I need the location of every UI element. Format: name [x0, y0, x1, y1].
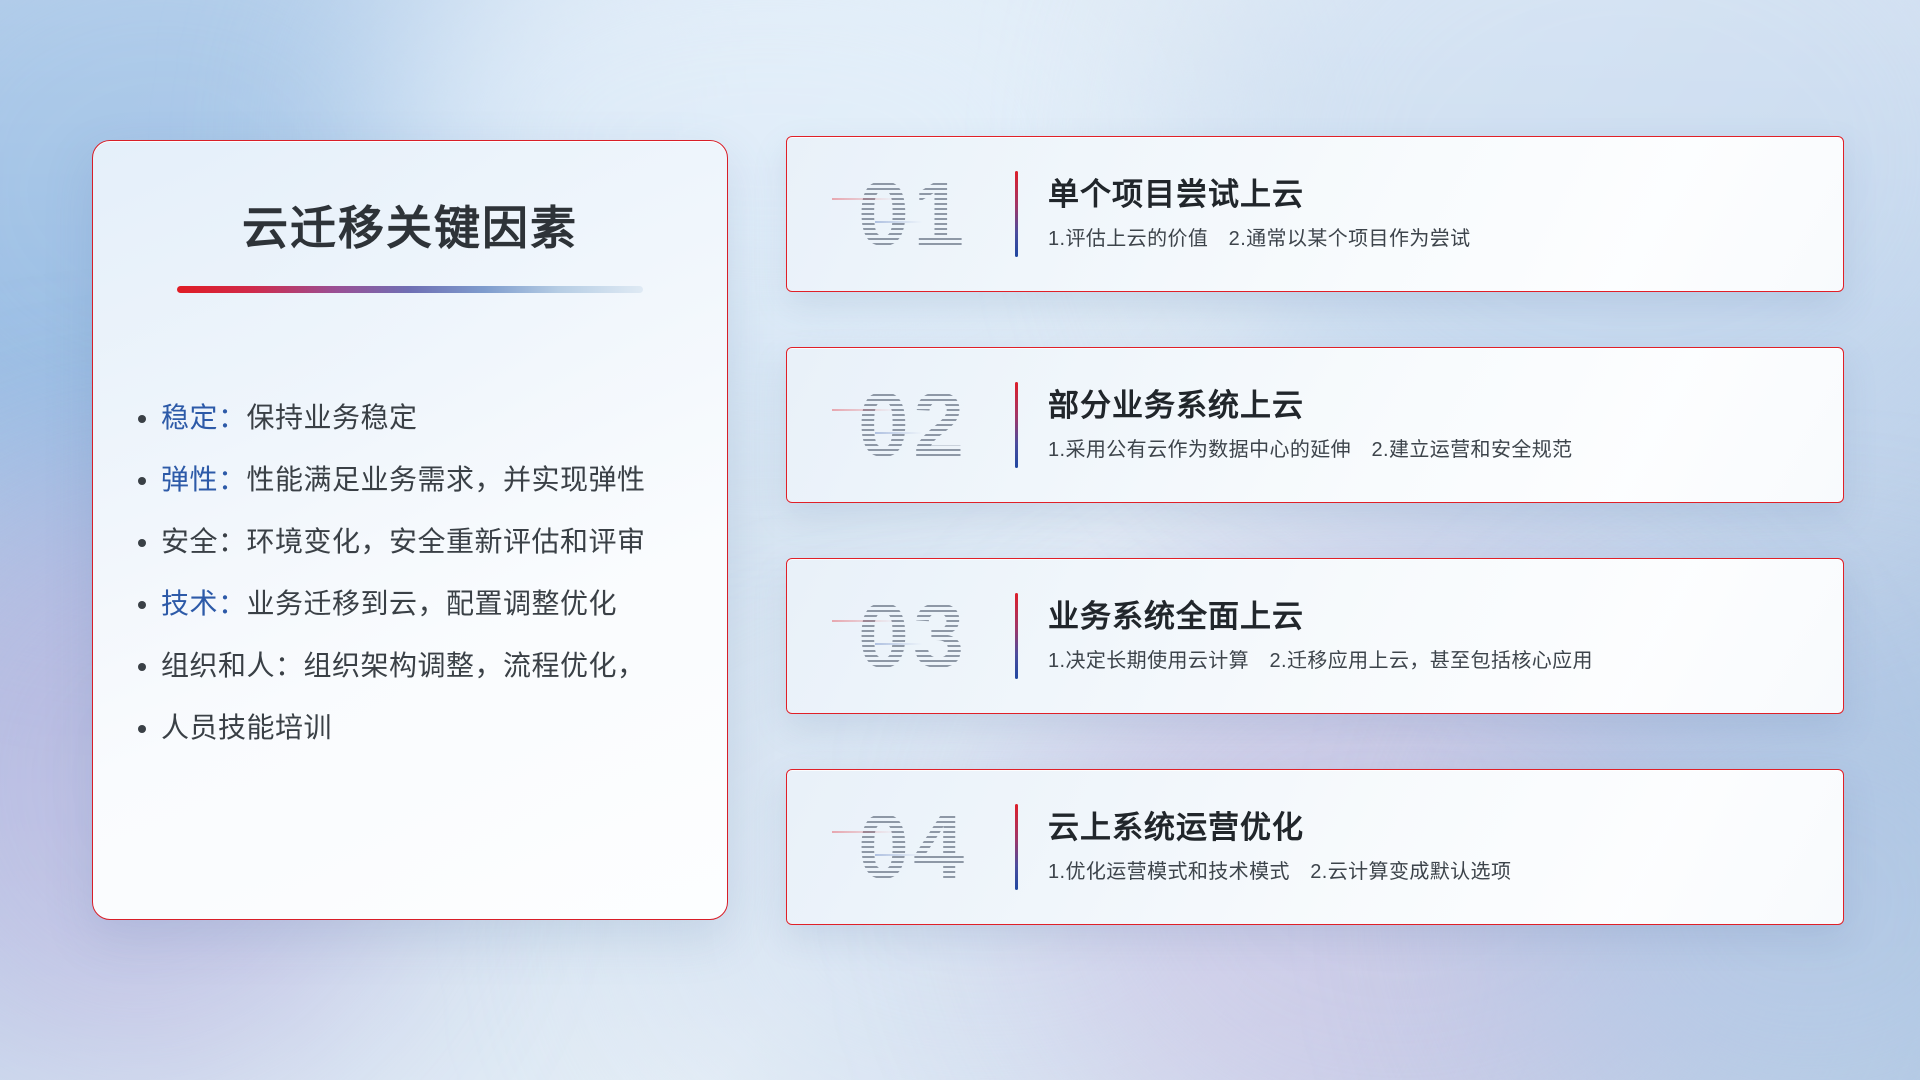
factor-label: 组织和人： — [161, 650, 304, 681]
card-text: 云上系统运营优化 1.优化运营模式和技术模式 2.云计算变成默认选项 — [1048, 810, 1843, 884]
list-item: 安全：环境变化，安全重新评估和评审 — [161, 511, 727, 573]
step-number-text: 03 — [858, 590, 968, 682]
list-item: 弹性：性能满足业务需求，并实现弹性 — [161, 449, 727, 511]
step-subtitle: 1.评估上云的价值 2.通常以某个项目作为尝试 — [1048, 227, 1819, 251]
step-card-03[interactable]: 03 业务系统全面上云 1.决定长期使用云计算 2.迁移应用上云，甚至包括核心应… — [786, 558, 1844, 714]
factor-value: 环境变化，安全重新评估和评审 — [247, 526, 646, 557]
slide-canvas: 云迁移关键因素 稳定：保持业务稳定 弹性：性能满足业务需求，并实现弹性 安全：环… — [0, 0, 1920, 1080]
card-body: 01 单个项目尝试上云 1.评估上云的价值 2.通常以某个项目作为尝试 — [787, 137, 1843, 291]
step-card-04[interactable]: 04 云上系统运营优化 1.优化运营模式和技术模式 2.云计算变成默认选项 — [786, 769, 1844, 925]
title-underline-rule — [177, 286, 643, 293]
page-title: 云迁移关键因素 — [93, 203, 727, 254]
step-title: 业务系统全面上云 — [1048, 599, 1819, 635]
key-factors-panel: 云迁移关键因素 稳定：保持业务稳定 弹性：性能满足业务需求，并实现弹性 安全：环… — [92, 140, 728, 920]
migration-steps-list: 01 单个项目尝试上云 1.评估上云的价值 2.通常以某个项目作为尝试 02 部… — [786, 136, 1844, 925]
list-item: 人员技能培训 — [161, 697, 727, 759]
card-text: 业务系统全面上云 1.决定长期使用云计算 2.迁移应用上云，甚至包括核心应用 — [1048, 599, 1843, 673]
step-divider-rule — [1015, 593, 1018, 679]
step-number-text: 01 — [858, 168, 968, 260]
factor-label: 稳定： — [161, 402, 247, 433]
list-item: 稳定：保持业务稳定 — [161, 387, 727, 449]
step-number-01: 01 — [815, 168, 1011, 260]
card-body: 03 业务系统全面上云 1.决定长期使用云计算 2.迁移应用上云，甚至包括核心应… — [787, 559, 1843, 713]
factor-value: 性能满足业务需求，并实现弹性 — [247, 464, 646, 495]
step-number-03: 03 — [815, 590, 1011, 682]
step-card-02[interactable]: 02 部分业务系统上云 1.采用公有云作为数据中心的延伸 2.建立运营和安全规范 — [786, 347, 1844, 503]
step-title: 单个项目尝试上云 — [1048, 177, 1819, 213]
card-text: 单个项目尝试上云 1.评估上云的价值 2.通常以某个项目作为尝试 — [1048, 177, 1843, 251]
factor-label: 安全： — [161, 526, 247, 557]
step-card-01[interactable]: 01 单个项目尝试上云 1.评估上云的价值 2.通常以某个项目作为尝试 — [786, 136, 1844, 292]
key-factors-list: 稳定：保持业务稳定 弹性：性能满足业务需求，并实现弹性 安全：环境变化，安全重新… — [93, 387, 727, 759]
factor-value: 组织架构调整，流程优化， — [304, 650, 646, 681]
step-subtitle: 1.优化运营模式和技术模式 2.云计算变成默认选项 — [1048, 860, 1819, 884]
step-number-02: 02 — [815, 379, 1011, 471]
card-text: 部分业务系统上云 1.采用公有云作为数据中心的延伸 2.建立运营和安全规范 — [1048, 388, 1843, 462]
step-number-04: 04 — [815, 801, 1011, 893]
factor-value: 业务迁移到云，配置调整优化 — [247, 588, 618, 619]
factor-value: 人员技能培训 — [161, 712, 332, 743]
list-item: 组织和人：组织架构调整，流程优化， — [161, 635, 727, 697]
step-title: 部分业务系统上云 — [1048, 388, 1819, 424]
list-item: 技术：业务迁移到云，配置调整优化 — [161, 573, 727, 635]
step-divider-rule — [1015, 171, 1018, 257]
step-subtitle: 1.采用公有云作为数据中心的延伸 2.建立运营和安全规范 — [1048, 438, 1819, 462]
card-body: 02 部分业务系统上云 1.采用公有云作为数据中心的延伸 2.建立运营和安全规范 — [787, 348, 1843, 502]
factor-value: 保持业务稳定 — [247, 402, 418, 433]
factor-label: 弹性： — [161, 464, 247, 495]
key-factors-panel-content: 云迁移关键因素 稳定：保持业务稳定 弹性：性能满足业务需求，并实现弹性 安全：环… — [93, 141, 727, 759]
step-title: 云上系统运营优化 — [1048, 810, 1819, 846]
step-number-text: 02 — [858, 379, 968, 471]
step-subtitle: 1.决定长期使用云计算 2.迁移应用上云，甚至包括核心应用 — [1048, 649, 1819, 673]
card-body: 04 云上系统运营优化 1.优化运营模式和技术模式 2.云计算变成默认选项 — [787, 770, 1843, 924]
step-divider-rule — [1015, 804, 1018, 890]
step-divider-rule — [1015, 382, 1018, 468]
factor-label: 技术： — [161, 588, 247, 619]
step-number-text: 04 — [858, 801, 968, 893]
